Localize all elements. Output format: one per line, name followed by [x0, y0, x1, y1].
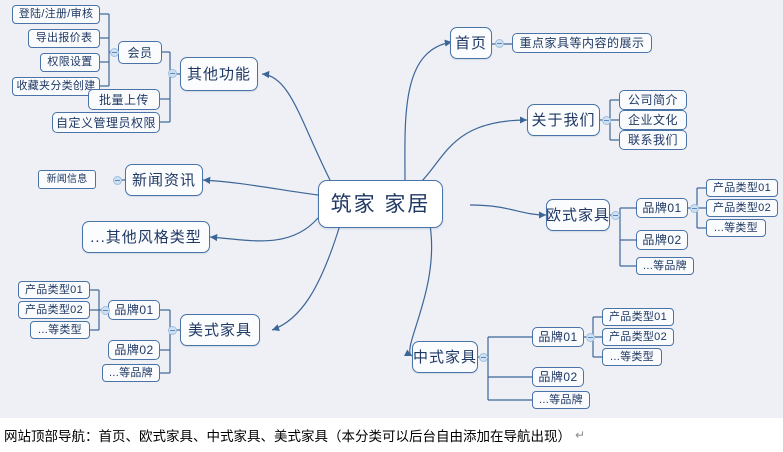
- node-label: 公司简介: [628, 94, 678, 106]
- collapse-toggle-icon[interactable]: [113, 176, 122, 185]
- node-label: 会员: [127, 47, 152, 59]
- node-huiyuan-child-3[interactable]: 收藏夹分类创建: [12, 77, 100, 96]
- node-label: 产品类型01: [25, 285, 83, 296]
- branch-qita-gongneng[interactable]: 其他功能: [180, 57, 258, 91]
- node-oushi-brand-0-type-1[interactable]: 产品类型02: [706, 199, 778, 217]
- caption-bar: 网站顶部导航：首页、欧式家具、中式家具、美式家具（本分类可以后台自由添加在导航出…: [0, 418, 783, 452]
- branch-meishi-label: 美式家具: [188, 323, 252, 338]
- node-meishi-brand-2[interactable]: ...等品牌: [102, 364, 160, 382]
- node-label: 品牌01: [538, 331, 577, 343]
- node-huiyuan[interactable]: 会员: [118, 41, 162, 64]
- caption-text: 网站顶部导航：首页、欧式家具、中式家具、美式家具（本分类可以后台自由添加在导航出…: [4, 425, 571, 445]
- node-label: 登陆/注册/审核: [19, 9, 94, 20]
- node-zidingyi-quanxian[interactable]: 自定义管理员权限: [52, 112, 160, 133]
- branch-xinwen-zixun[interactable]: 新闻资讯: [125, 164, 203, 196]
- node-zhongshi-brand-0-type-2[interactable]: ...等类型: [602, 348, 662, 366]
- node-meishi-brand-0[interactable]: 品牌01: [108, 300, 160, 320]
- node-guanyu-child-1[interactable]: 企业文化: [619, 110, 687, 130]
- node-label: 产品类型02: [25, 305, 83, 316]
- node-label: 自定义管理员权限: [56, 117, 156, 129]
- mindmap-canvas[interactable]: 筑家 家居 首页 重点家具等内容的展示 关于我们 公司简介 企业文化 联系我们 …: [0, 0, 783, 418]
- collapse-toggle-icon[interactable]: [101, 306, 110, 315]
- branch-oushi-label: 欧式家具: [546, 208, 610, 223]
- collapse-toggle-icon[interactable]: [602, 116, 611, 125]
- node-guanyu-child-2[interactable]: 联系我们: [619, 130, 687, 150]
- node-zhongshi-brand-0[interactable]: 品牌01: [532, 327, 584, 347]
- collapse-toggle-icon[interactable]: [586, 333, 595, 342]
- branch-shouye[interactable]: 首页: [450, 27, 492, 59]
- root-label: 筑家 家居: [331, 194, 431, 215]
- node-label: 导出报价表: [36, 33, 93, 44]
- node-guanyu-child-0[interactable]: 公司简介: [619, 90, 687, 110]
- node-zhongshi-brand-0-type-0[interactable]: 产品类型01: [602, 308, 674, 326]
- node-zhongshi-brand-1[interactable]: 品牌02: [532, 367, 584, 387]
- node-label: ...等类型: [610, 352, 654, 363]
- node-oushi-brand-0-type-2[interactable]: ...等类型: [706, 219, 766, 237]
- collapse-toggle-icon[interactable]: [168, 326, 177, 335]
- mindmap-screenshot: 筑家 家居 首页 重点家具等内容的展示 关于我们 公司简介 企业文化 联系我们 …: [0, 0, 783, 452]
- node-shouye-child-0[interactable]: 重点家具等内容的展示: [512, 33, 652, 53]
- branch-zhongshi-jiaju[interactable]: 中式家具: [412, 341, 478, 373]
- branch-guanyu-label: 关于我们: [531, 113, 595, 128]
- node-oushi-brand-0-type-0[interactable]: 产品类型01: [706, 179, 778, 197]
- node-label: ...等品牌: [539, 395, 583, 406]
- node-label: 企业文化: [628, 114, 678, 126]
- node-label: 产品类型01: [609, 312, 667, 323]
- collapse-toggle-icon[interactable]: [110, 48, 119, 57]
- node-zhongshi-brand-0-type-1[interactable]: 产品类型02: [602, 328, 674, 346]
- branch-qita-gongneng-label: 其他功能: [187, 67, 251, 82]
- node-label: 产品类型02: [713, 203, 771, 214]
- collapse-toggle-icon[interactable]: [479, 353, 488, 362]
- branch-xinwen-label: 新闻资讯: [132, 173, 196, 188]
- branch-guanyu-women[interactable]: 关于我们: [527, 104, 600, 136]
- collapse-toggle-icon[interactable]: [168, 69, 177, 78]
- node-label: ...等类型: [714, 223, 758, 234]
- branch-meishi-jiaju[interactable]: 美式家具: [180, 314, 260, 346]
- node-label: 新闻信息: [47, 175, 88, 185]
- node-meishi-brand-0-type-2[interactable]: ...等类型: [30, 321, 90, 339]
- paragraph-return-icon: ↵: [575, 428, 585, 442]
- node-xinwen-child-0[interactable]: 新闻信息: [38, 170, 96, 189]
- node-label: 收藏夹分类创建: [16, 81, 95, 92]
- node-label: 重点家具等内容的展示: [519, 37, 644, 49]
- branch-zhongshi-label: 中式家具: [413, 350, 477, 365]
- node-meishi-brand-0-type-1[interactable]: 产品类型02: [18, 301, 90, 319]
- node-label: 品牌01: [114, 304, 153, 316]
- node-label: 产品类型02: [609, 332, 667, 343]
- node-label: 品牌02: [114, 344, 153, 356]
- node-oushi-brand-1[interactable]: 品牌02: [636, 230, 688, 250]
- node-meishi-brand-0-type-0[interactable]: 产品类型01: [18, 281, 90, 299]
- node-label: 批量上传: [99, 94, 149, 106]
- node-label: 联系我们: [628, 134, 678, 146]
- branch-shouye-label: 首页: [455, 36, 487, 51]
- node-label: ...等品牌: [109, 368, 153, 379]
- collapse-toggle-icon[interactable]: [690, 204, 699, 213]
- node-piliang-shangchuan[interactable]: 批量上传: [88, 89, 160, 110]
- node-oushi-brand-2[interactable]: ...等品牌: [636, 257, 694, 275]
- node-label: 品牌01: [642, 202, 681, 214]
- node-meishi-brand-1[interactable]: 品牌02: [108, 340, 160, 360]
- node-oushi-brand-0[interactable]: 品牌01: [636, 198, 688, 218]
- node-label: 产品类型01: [713, 183, 771, 194]
- branch-qita-fengge[interactable]: ...其他风格类型: [82, 221, 210, 253]
- node-label: ...等类型: [38, 325, 82, 336]
- node-label: 品牌02: [538, 371, 577, 383]
- node-zhongshi-brand-2[interactable]: ...等品牌: [532, 391, 590, 409]
- mindmap-root-node[interactable]: 筑家 家居: [318, 180, 443, 228]
- branch-oushi-jiaju[interactable]: 欧式家具: [546, 199, 610, 231]
- node-huiyuan-child-1[interactable]: 导出报价表: [28, 29, 100, 48]
- node-label: 品牌02: [642, 234, 681, 246]
- node-label: ...等品牌: [643, 261, 687, 272]
- collapse-toggle-icon[interactable]: [611, 211, 620, 220]
- node-label: 权限设置: [47, 57, 92, 68]
- node-huiyuan-child-0[interactable]: 登陆/注册/审核: [12, 5, 100, 24]
- node-huiyuan-child-2[interactable]: 权限设置: [40, 53, 100, 72]
- collapse-toggle-icon[interactable]: [495, 39, 504, 48]
- branch-qita-fengge-label: ...其他风格类型: [90, 230, 202, 245]
